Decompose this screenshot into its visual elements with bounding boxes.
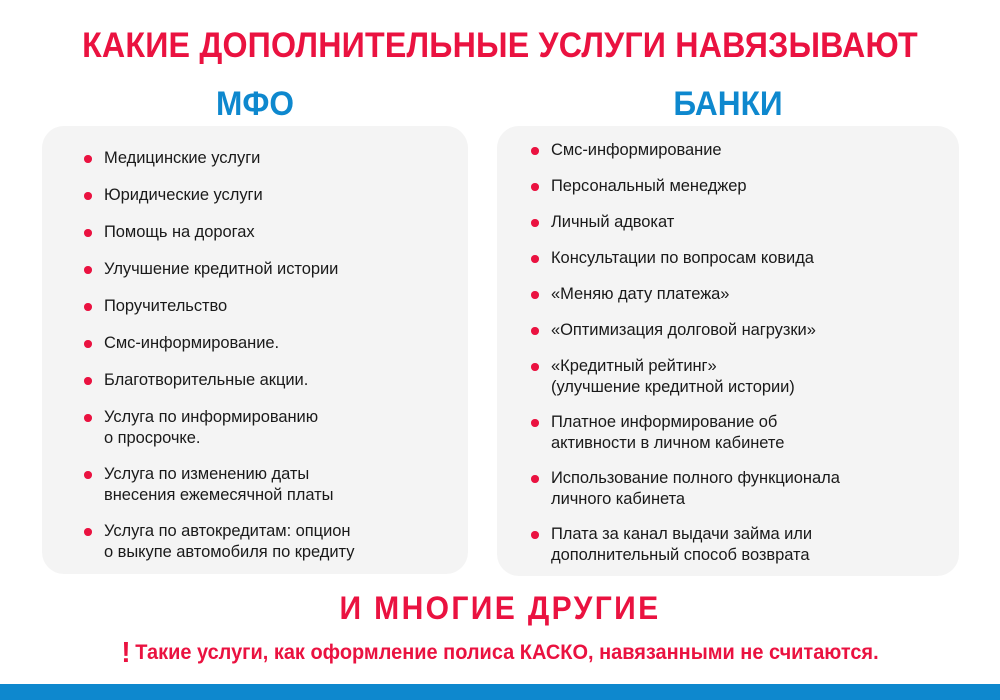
bullet-dot-icon — [84, 303, 92, 311]
bullet-dot-icon — [531, 183, 539, 191]
list-item: Услуга по информированию о просрочке. — [84, 407, 450, 449]
bullet-dot-icon — [84, 340, 92, 348]
list-item: Услуга по автокредитам: опцион о выкупе … — [84, 521, 450, 563]
bullet-dot-icon — [84, 528, 92, 536]
bullet-dot-icon — [531, 419, 539, 427]
list-item-label: Услуга по автокредитам: опцион о выкупе … — [104, 521, 450, 563]
list-item: Улучшение кредитной истории — [84, 259, 450, 280]
list-item: «Оптимизация долговой нагрузки» — [531, 320, 941, 341]
list-item-label: Медицинские услуги — [104, 148, 450, 169]
bullet-dot-icon — [84, 377, 92, 385]
list-item: Плата за канал выдачи займа или дополнит… — [531, 524, 941, 566]
page-title: КАКИЕ ДОПОЛНИТЕЛЬНЫЕ УСЛУГИ НАВЯЗЫВАЮТ — [40, 26, 960, 66]
bullet-list-mfo: Медицинские услугиЮридические услугиПомо… — [84, 148, 450, 563]
bullet-dot-icon — [531, 531, 539, 539]
column-heading-mfo: МФО — [57, 84, 453, 124]
list-item-label: «Оптимизация долговой нагрузки» — [551, 320, 941, 341]
list-item-label: Улучшение кредитной истории — [104, 259, 450, 280]
list-item: Консультации по вопросам ковида — [531, 248, 941, 269]
list-item: Помощь на дорогах — [84, 222, 450, 243]
card-banks: Смс-информированиеПерсональный менеджерЛ… — [497, 126, 959, 576]
bullet-dot-icon — [84, 414, 92, 422]
bullet-dot-icon — [531, 327, 539, 335]
bullet-dot-icon — [531, 219, 539, 227]
list-item-label: Личный адвокат — [551, 212, 941, 233]
list-item: Платное информирование об активности в л… — [531, 412, 941, 454]
list-item-label: Поручительство — [104, 296, 450, 317]
list-item-label: Смс-информирование — [551, 140, 941, 161]
card-mfo: Медицинские услугиЮридические услугиПомо… — [42, 126, 468, 574]
list-item: Смс-информирование. — [84, 333, 450, 354]
bullet-dot-icon — [84, 192, 92, 200]
bullet-dot-icon — [84, 155, 92, 163]
list-item: Использование полного функционала личног… — [531, 468, 941, 510]
list-item: Персональный менеджер — [531, 176, 941, 197]
list-item-label: Использование полного функционала личног… — [551, 468, 941, 510]
footer-heading: И МНОГИЕ ДРУГИЕ — [30, 590, 970, 626]
bullet-dot-icon — [531, 475, 539, 483]
list-item: Юридические услуги — [84, 185, 450, 206]
bullet-list-banks: Смс-информированиеПерсональный менеджерЛ… — [531, 140, 941, 566]
bottom-accent-bar — [0, 684, 1000, 700]
list-item: «Кредитный рейтинг» (улучшение кредитной… — [531, 356, 941, 398]
list-item: Благотворительные акции. — [84, 370, 450, 391]
list-item: Поручительство — [84, 296, 450, 317]
list-item-label: Благотворительные акции. — [104, 370, 450, 391]
list-item-label: Платное информирование об активности в л… — [551, 412, 941, 454]
list-item-label: Помощь на дорогах — [104, 222, 450, 243]
bullet-dot-icon — [84, 266, 92, 274]
list-item: Медицинские услуги — [84, 148, 450, 169]
footer-note: !Такие услуги, как оформление полиса КАС… — [25, 640, 975, 666]
list-item-label: Плата за канал выдачи займа или дополнит… — [551, 524, 941, 566]
column-heading-banks: БАНКИ — [513, 84, 943, 124]
list-item-label: Услуга по изменению даты внесения ежемес… — [104, 464, 450, 506]
bullet-dot-icon — [531, 363, 539, 371]
bullet-dot-icon — [84, 471, 92, 479]
bullet-dot-icon — [84, 229, 92, 237]
bullet-dot-icon — [531, 291, 539, 299]
exclamation-icon: ! — [121, 640, 130, 666]
list-item-label: «Меняю дату платежа» — [551, 284, 941, 305]
list-item: Смс-информирование — [531, 140, 941, 161]
infographic-root: КАКИЕ ДОПОЛНИТЕЛЬНЫЕ УСЛУГИ НАВЯЗЫВАЮТ М… — [0, 0, 1000, 700]
list-item: Личный адвокат — [531, 212, 941, 233]
list-item-label: Персональный менеджер — [551, 176, 941, 197]
list-item-label: Услуга по информированию о просрочке. — [104, 407, 450, 449]
list-item: Услуга по изменению даты внесения ежемес… — [84, 464, 450, 506]
list-item-label: Консультации по вопросам ковида — [551, 248, 941, 269]
list-item: «Меняю дату платежа» — [531, 284, 941, 305]
list-item-label: Юридические услуги — [104, 185, 450, 206]
list-item-label: Смс-информирование. — [104, 333, 450, 354]
list-item-label: «Кредитный рейтинг» (улучшение кредитной… — [551, 356, 941, 398]
bullet-dot-icon — [531, 255, 539, 263]
footer-note-text: Такие услуги, как оформление полиса КАСК… — [135, 641, 878, 664]
bullet-dot-icon — [531, 147, 539, 155]
